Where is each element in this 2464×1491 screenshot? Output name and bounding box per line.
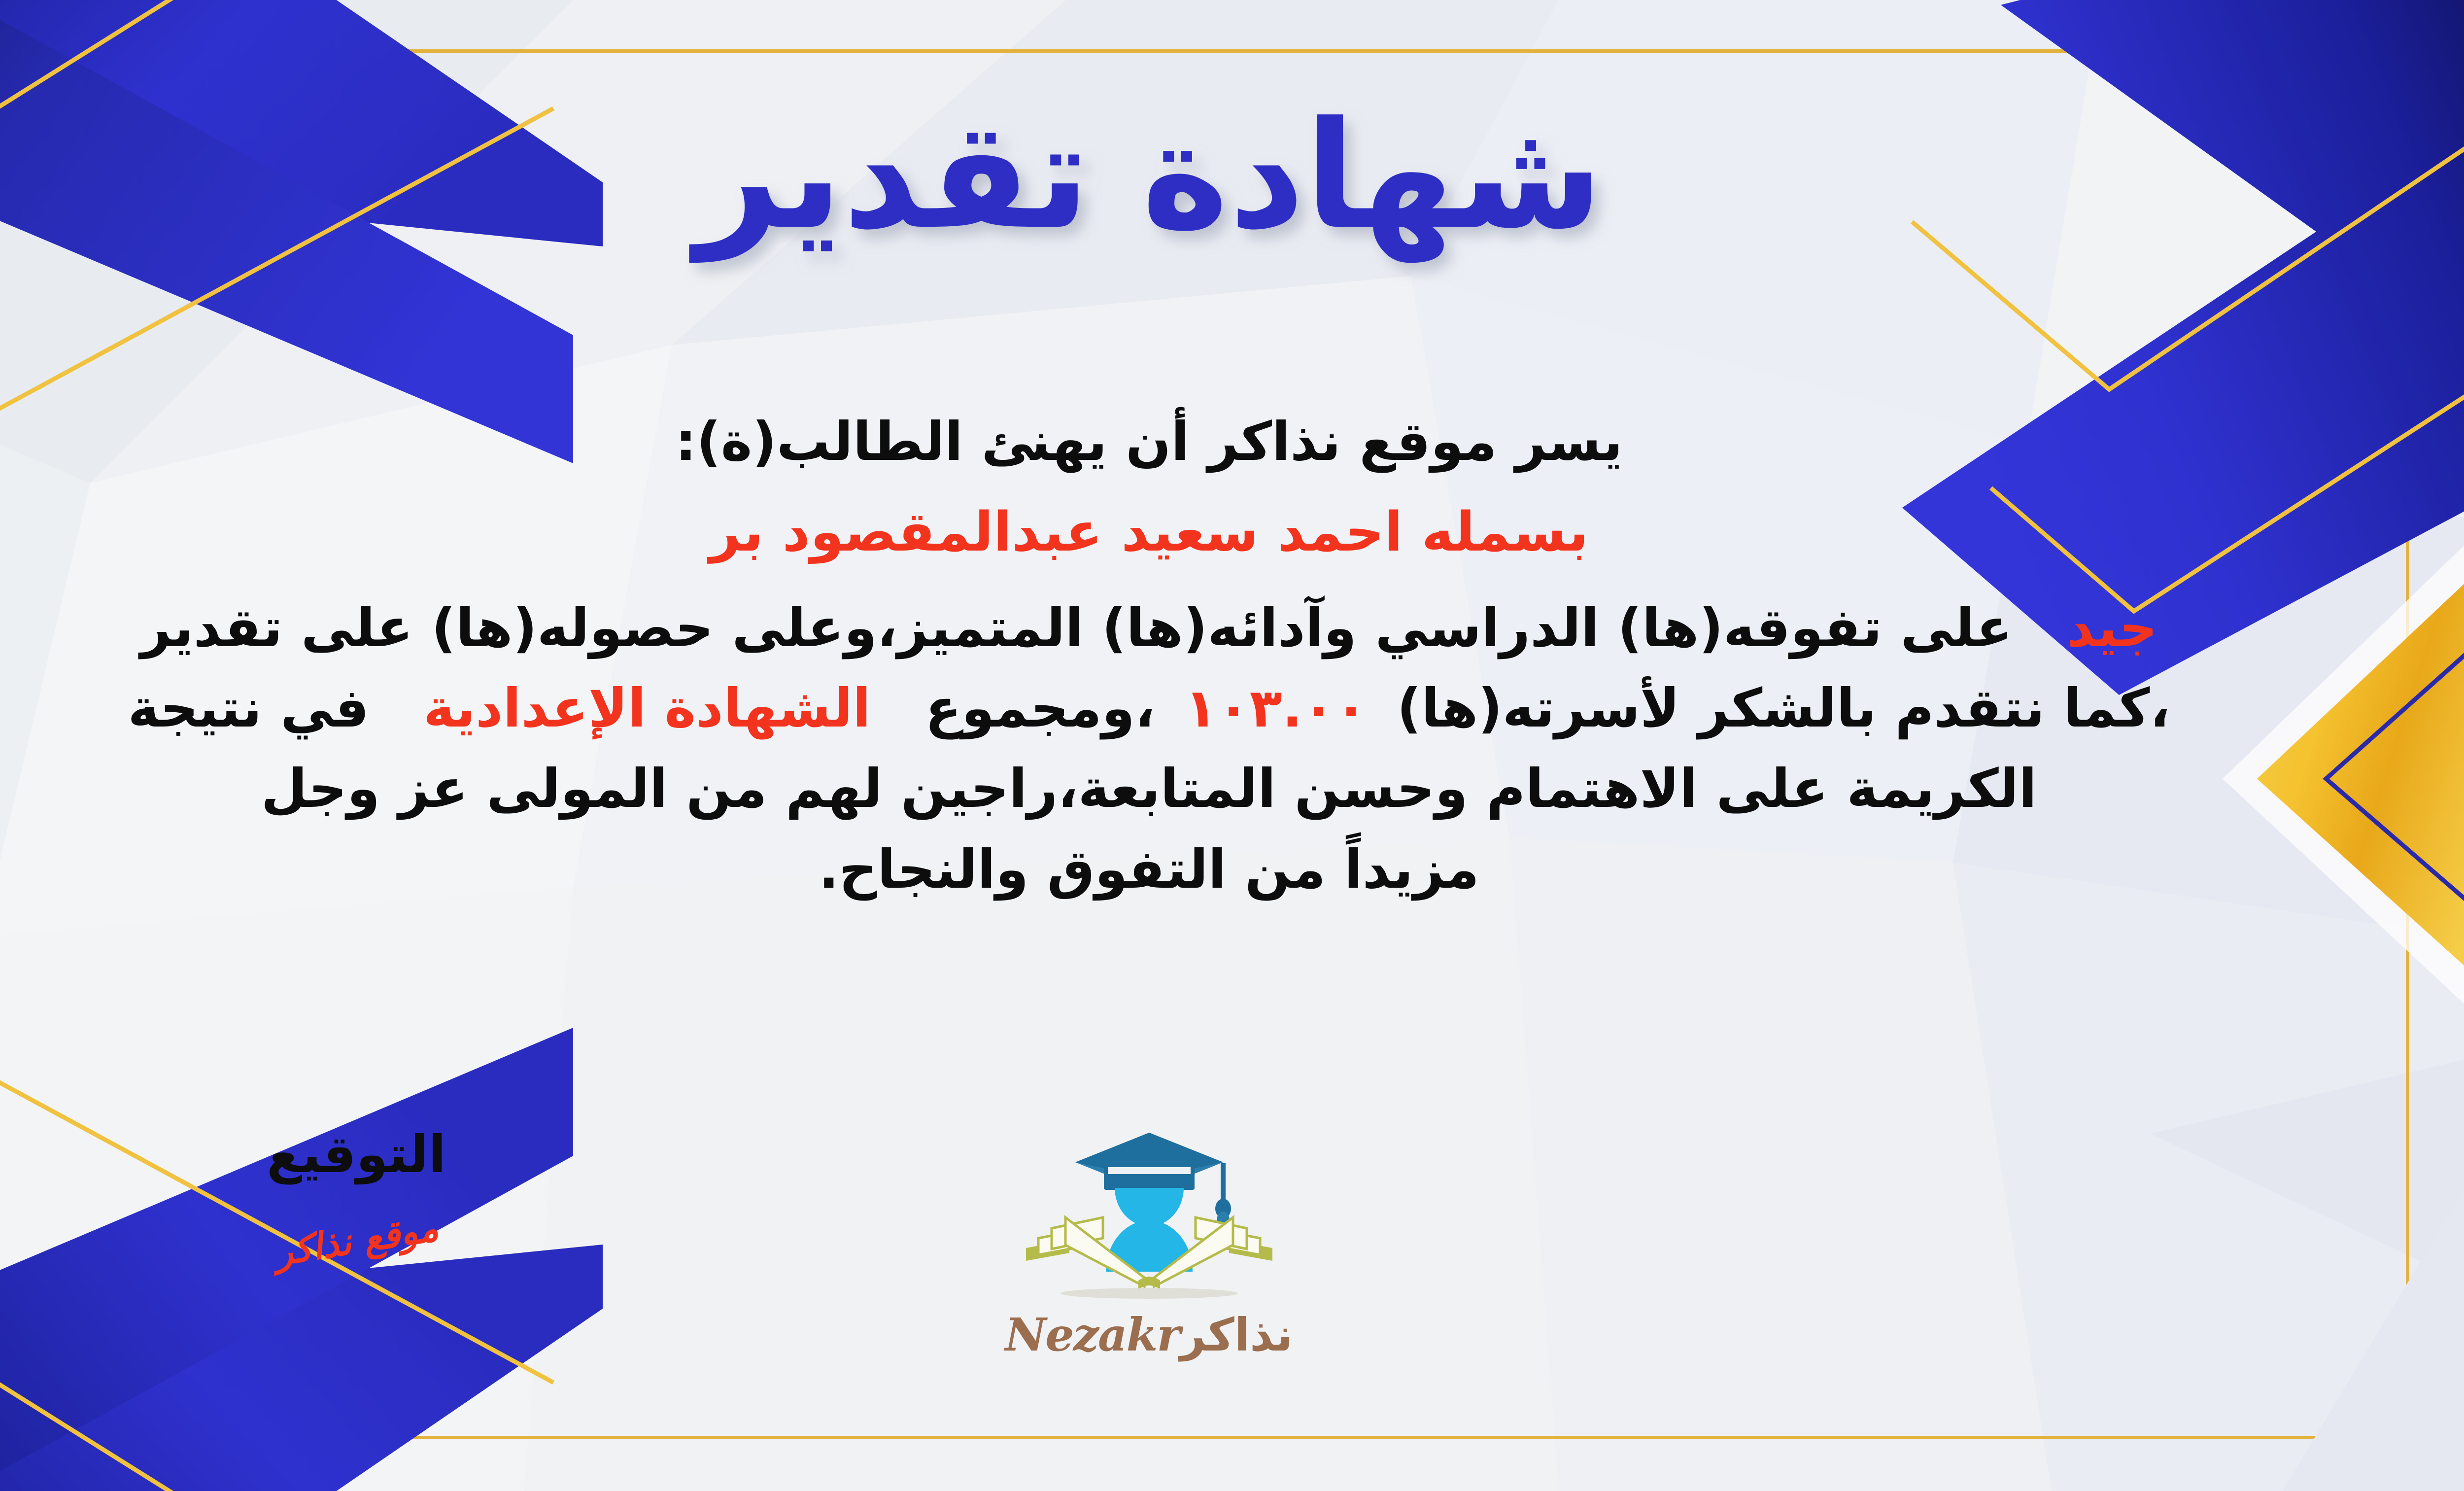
thanks-text: ،كما نتقدم بالشكر لأسرته(ها) — [1397, 678, 2170, 739]
graduate-book-logo-icon — [1011, 1124, 1287, 1311]
achievement-text: على تفوقه(ها) الدراسي وآدائه(ها) المتميز… — [140, 597, 2013, 659]
grade-value: جيد — [2067, 597, 2157, 659]
signature-label: التوقيع — [199, 1129, 514, 1180]
certificate-title-wrap: شهادة تقدير — [0, 69, 2464, 296]
achievement-line: جيدعلى تفوقه(ها) الدراسي وآدائه(ها) المت… — [0, 590, 2361, 666]
logo-latin-name: Nezakr — [1005, 1308, 1180, 1361]
certificate-title: شهادة تقدير — [688, 90, 1603, 264]
site-logo: Nezakrنذاكر — [962, 1124, 1336, 1361]
exam-result-line: ،كما نتقدم بالشكر لأسرته(ها)١٠٣.٠٠،ومجمو… — [0, 671, 2361, 746]
closing-line: مزيداً من التفوق والنجاح. — [0, 832, 2361, 907]
signature-script: موقع نذاكر — [272, 1207, 441, 1274]
logo-wordmark: Nezakrنذاكر — [962, 1308, 1336, 1361]
total-label: ،ومجموع — [925, 678, 1155, 739]
intro-line: يسر موقع نذاكر أن يهنئ الطالب(ة): — [0, 404, 2361, 480]
family-thanks-line: الكريمة على الاهتمام وحسن المتابعة،راجين… — [0, 751, 2361, 827]
signature-block: التوقيع موقع نذاكر — [199, 1129, 514, 1262]
certificate-canvas: شهادة تقدير يسر موقع نذاكر أن يهنئ الطال… — [0, 0, 2464, 1491]
certificate-body: يسر موقع نذاكر أن يهنئ الطالب(ة): بسمله … — [0, 404, 2361, 912]
corner-decoration-bottom-right — [2040, 1156, 2464, 1491]
student-name: بسمله احمد سعيد عبدالمقصود بر — [0, 493, 2361, 570]
exam-name: الشهادة الإعدادية — [423, 678, 871, 739]
total-score: ١٠٣.٠٠ — [1185, 678, 1368, 739]
logo-arabic-name: نذاكر — [1180, 1309, 1293, 1361]
result-prefix: في نتيجة — [128, 678, 369, 739]
